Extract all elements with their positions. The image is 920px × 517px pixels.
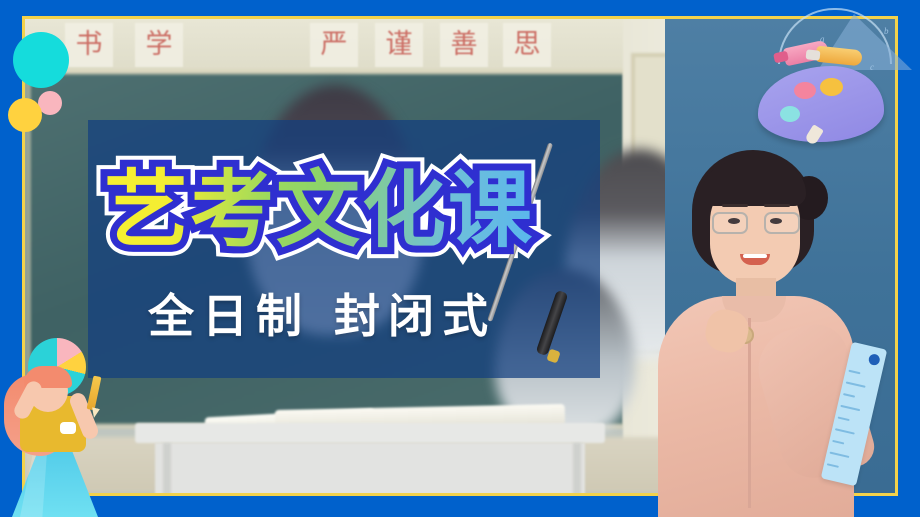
glasses-icon — [712, 212, 800, 234]
teacher-eyebrow — [722, 204, 748, 207]
teacher-fringe — [702, 162, 806, 206]
teacher-eyebrow — [764, 204, 790, 207]
paint-blob-pink — [794, 82, 816, 99]
paint-blob-cyan — [780, 106, 800, 122]
paint-tube-orange-nozzle — [806, 49, 821, 60]
ruler-hole — [868, 353, 881, 366]
illustrated-student — [0, 330, 122, 517]
student-cuff — [60, 422, 76, 434]
deco-circle-yellow — [8, 98, 42, 132]
page-title: 艺考文化课 艺考文化课 艺考文化课 — [104, 160, 584, 260]
blouse-placket — [748, 318, 751, 508]
deco-circle-cyan — [13, 32, 69, 88]
title-text: 艺考文化课 — [104, 161, 534, 259]
poster-canvas: 书 学 严 谨 善 思 — [0, 0, 920, 517]
triangle-label-b: b — [884, 26, 889, 36]
pencil-icon — [87, 376, 102, 411]
art-supplies-group: a b c — [752, 8, 902, 148]
triangle-label-c: c — [870, 62, 874, 72]
